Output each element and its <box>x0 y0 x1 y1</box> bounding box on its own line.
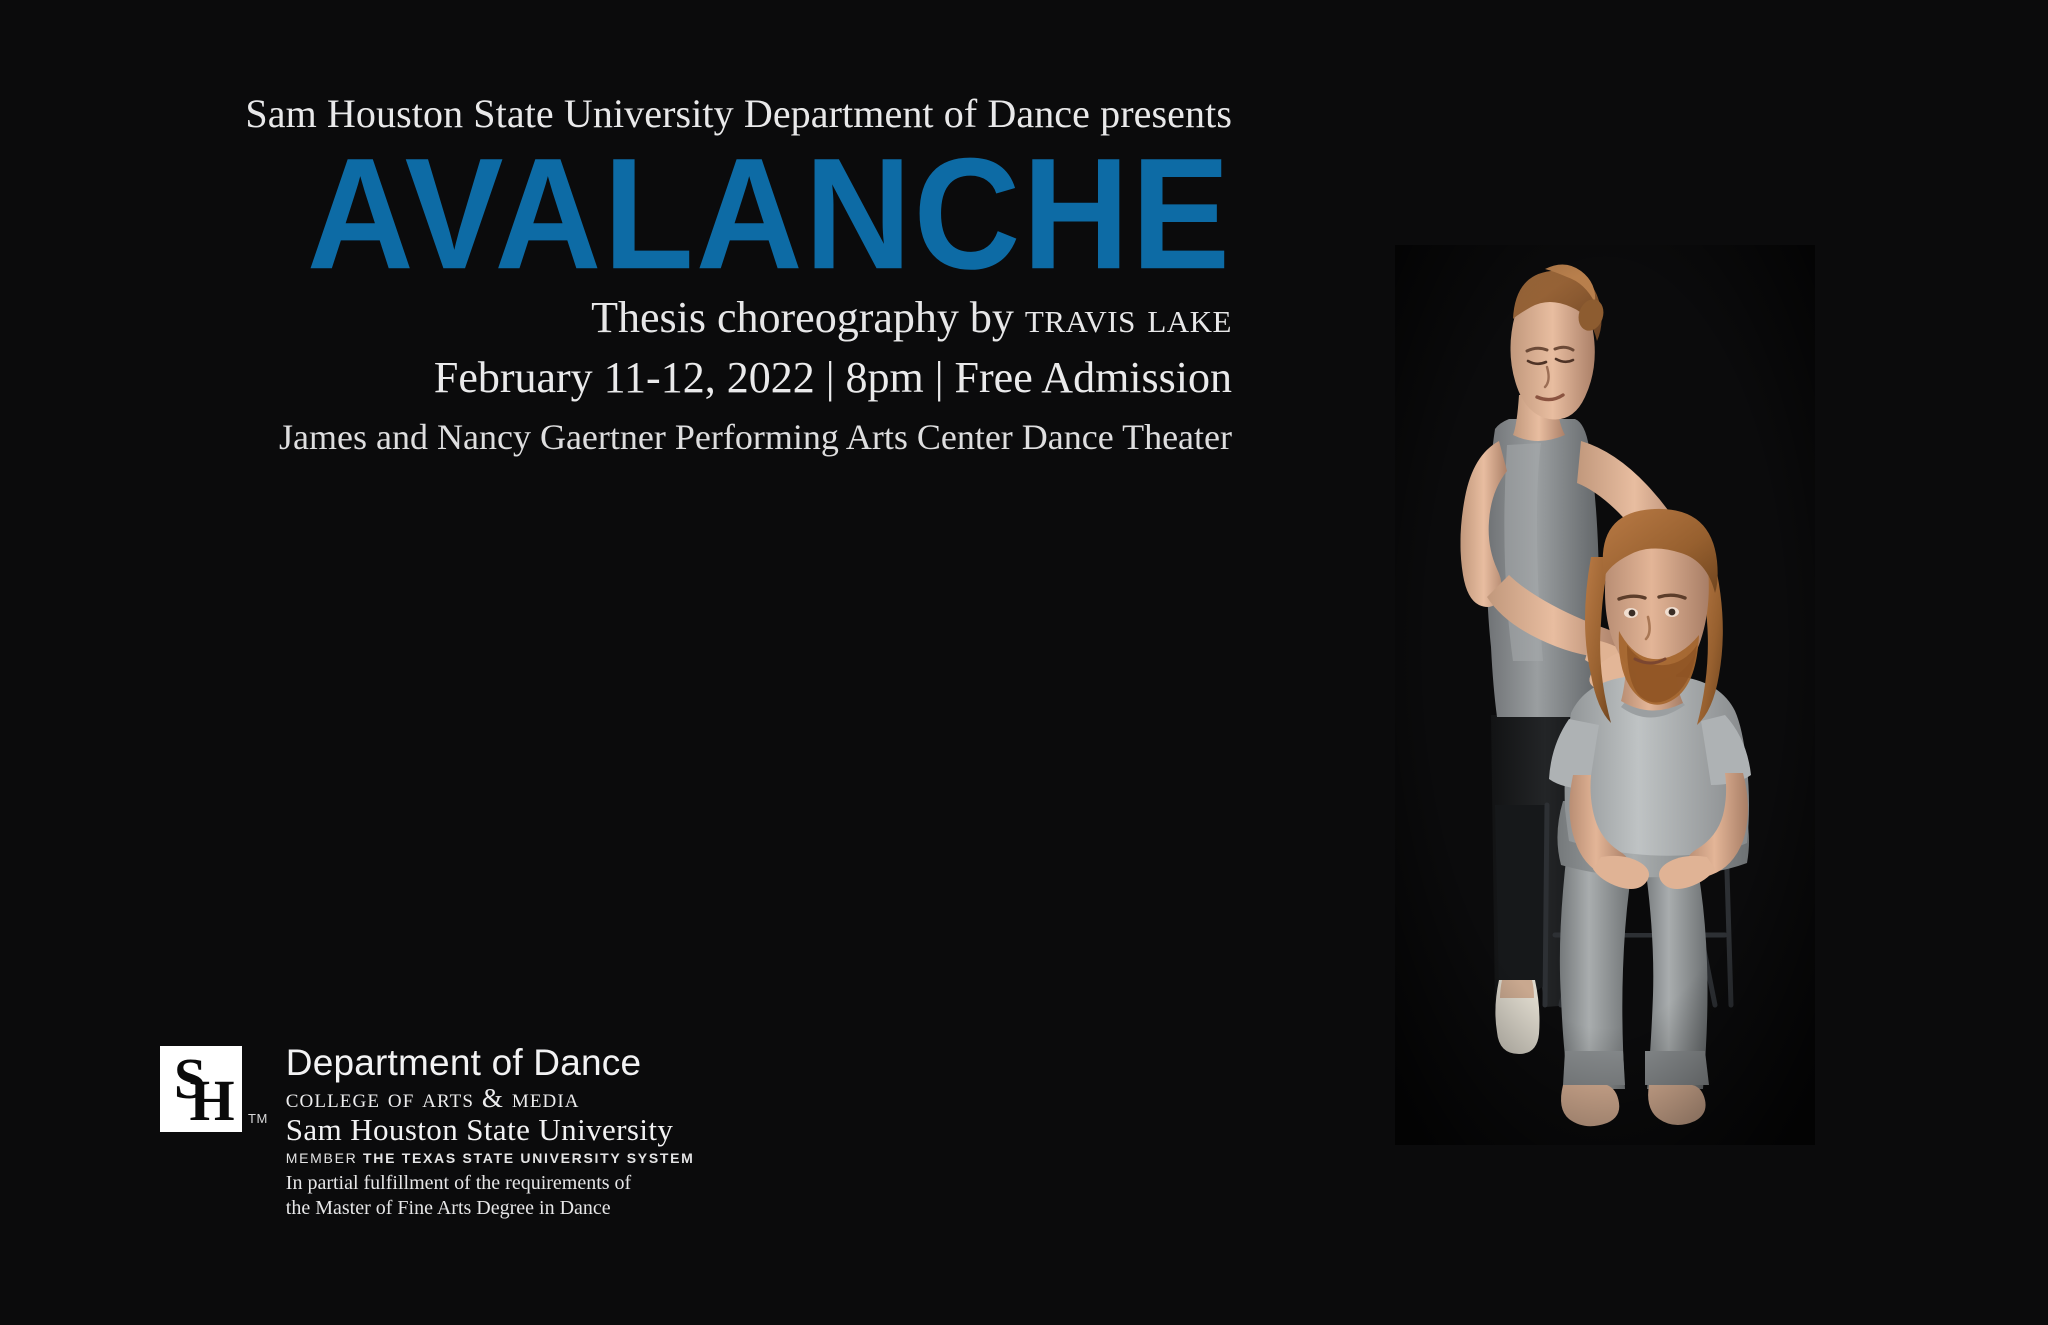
department-name: Department of Dance <box>286 1044 695 1081</box>
system-membership-line: MEMBER THE TEXAS STATE UNIVERSITY SYSTEM <box>286 1151 695 1166</box>
shsu-logo-block: S H TM Department of Dance College of Ar… <box>160 1038 695 1220</box>
svg-text:H: H <box>189 1068 234 1132</box>
logo-mark-wrap: S H TM <box>160 1038 268 1132</box>
system-name: THE TEXAS STATE UNIVERSITY SYSTEM <box>363 1150 694 1166</box>
poster-canvas: Sam Houston State University Department … <box>0 0 2048 1325</box>
system-member-label: MEMBER <box>286 1150 358 1166</box>
sh-monogram-icon: S H <box>160 1046 242 1132</box>
date-time-admission-line: February 11-12, 2022 | 8pm | Free Admiss… <box>0 352 1232 404</box>
university-name: Sam Houston State University <box>286 1114 695 1147</box>
venue-line: James and Nancy Gaertner Performing Arts… <box>0 416 1232 458</box>
page-title: AVALANCHE <box>0 142 1232 288</box>
mfa-line-2: the Master of Fine Arts Degree in Dance <box>286 1196 695 1220</box>
trademark-symbol: TM <box>248 1111 268 1126</box>
college-name: College of Arts & Media <box>286 1084 695 1112</box>
mfa-line-1: In partial fulfillment of the requiremen… <box>286 1171 695 1195</box>
poster-text-block: Sam Houston State University Department … <box>0 92 1232 458</box>
dance-performance-photo <box>1395 245 1815 1145</box>
logo-text-stack: Department of Dance College of Arts & Me… <box>286 1038 695 1220</box>
